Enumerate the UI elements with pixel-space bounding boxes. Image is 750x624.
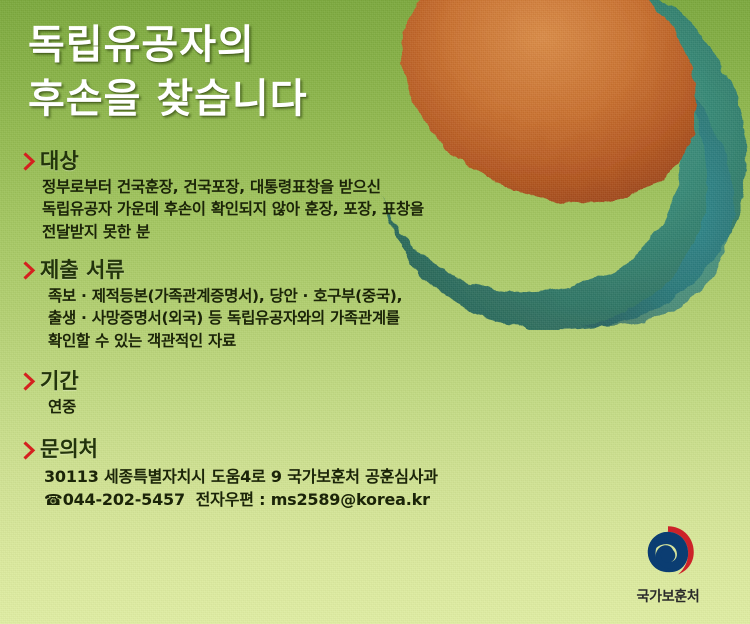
section-contact-head: 문의처 xyxy=(22,438,542,461)
telephone-icon: ☎ xyxy=(44,491,63,509)
section-documents-line-2: 출생 · 사망증명서(외국) 등 독립유공자와의 가족관계를 xyxy=(42,307,542,329)
title-line-1: 독립유공자의 xyxy=(28,18,308,72)
section-contact-body: 30113 세종특별자치시 도움4로 9 국가보훈처 공훈심사과 ☎044-20… xyxy=(22,465,542,512)
poster-title: 독립유공자의 후손을 찾습니다 xyxy=(28,18,308,127)
section-documents-line-1: 족보 · 제적등본(가족관계증명서), 당안 · 호구부(중국), xyxy=(42,285,542,307)
contact-email-label: 전자우편 : xyxy=(196,490,266,509)
section-period-title: 기간 xyxy=(40,370,79,393)
section-contact: 문의처 30113 세종특별자치시 도움4로 9 국가보훈처 공훈심사과 ☎04… xyxy=(22,438,542,511)
poster-sections: 대상 정부로부터 건국훈장, 건국포장, 대통령표창을 받으신 독립유공자 가운… xyxy=(22,150,542,524)
section-period-body: 연중 xyxy=(22,396,542,418)
contact-email[interactable]: ms2589@korea.kr xyxy=(271,490,430,509)
section-target: 대상 정부로부터 건국훈장, 건국포장, 대통령표창을 받으신 독립유공자 가운… xyxy=(22,150,542,243)
section-period: 기간 연중 xyxy=(22,370,542,418)
section-documents-head: 제출 서류 xyxy=(22,259,542,282)
chevron-right-icon xyxy=(22,372,36,391)
contact-phone[interactable]: 044-202-5457 xyxy=(63,490,185,509)
section-documents-line-3: 확인할 수 있는 객관적인 자료 xyxy=(42,330,542,352)
chevron-right-icon xyxy=(22,441,36,460)
section-target-line-3: 전달받지 못한 분 xyxy=(42,221,542,243)
taegeuk-logo-icon xyxy=(640,524,696,580)
section-target-title: 대상 xyxy=(40,150,79,173)
agency-name: 국가보훈처 xyxy=(614,586,722,606)
section-contact-title: 문의처 xyxy=(40,438,98,461)
section-target-line-1: 정부로부터 건국훈장, 건국포장, 대통령표창을 받으신 xyxy=(42,176,542,198)
section-period-head: 기간 xyxy=(22,370,542,393)
title-line-2: 후손을 찾습니다 xyxy=(28,72,308,126)
section-documents-body: 족보 · 제적등본(가족관계증명서), 당안 · 호구부(중국), 출생 · 사… xyxy=(22,285,542,352)
section-documents: 제출 서류 족보 · 제적등본(가족관계증명서), 당안 · 호구부(중국), … xyxy=(22,259,542,352)
section-target-line-2: 독립유공자 가운데 후손이 확인되지 않아 훈장, 포장, 표창을 xyxy=(42,198,542,220)
chevron-right-icon xyxy=(22,261,36,280)
section-target-body: 정부로부터 건국훈장, 건국포장, 대통령표창을 받으신 독립유공자 가운데 후… xyxy=(22,176,542,243)
poster-root: 독립유공자의 후손을 찾습니다 대상 정부로부터 건국훈장, 건국포장, 대통령… xyxy=(0,0,750,624)
agency-logo: 국가보훈처 xyxy=(614,524,722,606)
contact-phone-email-line: ☎044-202-5457 전자우편 : ms2589@korea.kr xyxy=(44,488,542,512)
section-period-line-1: 연중 xyxy=(48,396,542,418)
section-documents-title: 제출 서류 xyxy=(40,259,125,282)
contact-address: 30113 세종특별자치시 도움4로 9 국가보훈처 공훈심사과 xyxy=(44,465,542,488)
section-target-head: 대상 xyxy=(22,150,542,173)
chevron-right-icon xyxy=(22,152,36,171)
